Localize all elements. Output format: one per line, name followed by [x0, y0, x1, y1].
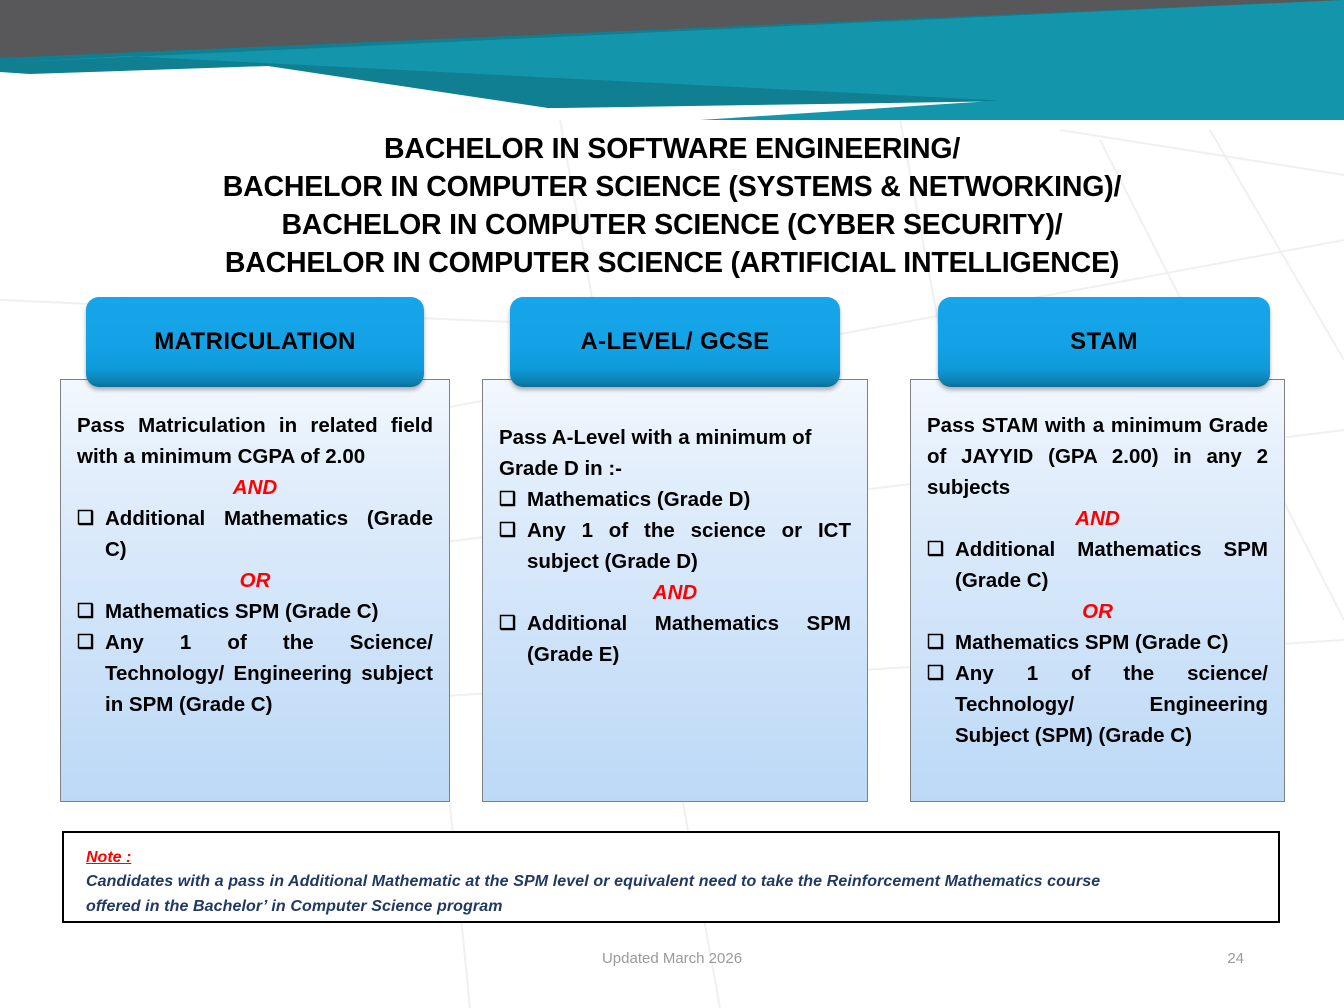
requirement-bullet: ❑Additional Mathematics SPM (Grade C)	[927, 534, 1268, 596]
checkbox-icon: ❑	[927, 627, 955, 658]
requirement-paragraph: Pass Matriculation in related field with…	[77, 410, 433, 472]
page-title: BACHELOR IN SOFTWARE ENGINEERING/ BACHEL…	[50, 130, 1294, 282]
column-header-label: MATRICULATION	[154, 328, 356, 356]
title-line-2: BACHELOR IN COMPUTER SCIENCE (SYSTEMS & …	[50, 168, 1294, 206]
conjunction-label: AND	[499, 577, 851, 608]
requirement-card-a-level-gcse: Pass A-Level with a minimum of Grade D i…	[482, 379, 868, 802]
requirement-paragraph: Pass A-Level with a minimum of Grade D i…	[499, 422, 851, 484]
note-line-2: offered in the Bachelor’ in Computer Sci…	[86, 894, 1256, 919]
column-header-pill-stam[interactable]: STAM	[938, 297, 1270, 387]
requirement-paragraph: Pass STAM with a minimum Grade of JAYYID…	[927, 410, 1268, 503]
requirement-card-body-matriculation: Pass Matriculation in related field with…	[61, 380, 449, 730]
requirement-bullet: ❑Any 1 of the Science/ Technology/ Engin…	[77, 627, 433, 720]
requirement-bullet-label: Additional Mathematics (Grade C)	[105, 503, 433, 565]
checkbox-icon: ❑	[927, 658, 955, 689]
requirement-column-matriculation: Pass Matriculation in related field with…	[60, 297, 450, 812]
conjunction-label: AND	[77, 472, 433, 503]
decorative-banner	[0, 0, 1344, 120]
checkbox-icon: ❑	[927, 534, 955, 565]
note-line-1: Candidates with a pass in Additional Mat…	[86, 869, 1256, 894]
requirement-bullet-label: Any 1 of the science/ Technology/ Engine…	[955, 658, 1268, 751]
requirement-bullet-label: Additional Mathematics SPM (Grade C)	[955, 534, 1268, 596]
conjunction-label: AND	[927, 503, 1268, 534]
title-line-4: BACHELOR IN COMPUTER SCIENCE (ARTIFICIAL…	[50, 244, 1294, 282]
conjunction-label: OR	[77, 565, 433, 596]
requirement-card-stam: Pass STAM with a minimum Grade of JAYYID…	[910, 379, 1285, 802]
requirement-bullet: ❑Any 1 of the science or ICT subject (Gr…	[499, 515, 851, 577]
column-header-pill-a-level-gcse[interactable]: A-LEVEL/ GCSE	[510, 297, 840, 387]
requirement-bullet: ❑Any 1 of the science/ Technology/ Engin…	[927, 658, 1268, 751]
checkbox-icon: ❑	[499, 515, 527, 546]
checkbox-icon: ❑	[77, 627, 105, 658]
checkbox-icon: ❑	[77, 596, 105, 627]
column-header-label: STAM	[1070, 328, 1138, 356]
requirement-bullet-label: Additional Mathematics SPM (Grade E)	[527, 608, 851, 670]
requirement-bullet-label: Mathematics (Grade D)	[527, 484, 851, 515]
title-line-3: BACHELOR IN COMPUTER SCIENCE (CYBER SECU…	[50, 206, 1294, 244]
requirement-card-body-stam: Pass STAM with a minimum Grade of JAYYID…	[911, 380, 1284, 761]
requirement-bullet: ❑Mathematics (Grade D)	[499, 484, 851, 515]
requirement-bullet-label: Any 1 of the science or ICT subject (Gra…	[527, 515, 851, 577]
requirement-card-matriculation: Pass Matriculation in related field with…	[60, 379, 450, 802]
column-header-pill-matriculation[interactable]: MATRICULATION	[86, 297, 424, 387]
footer-page-number: 24	[1227, 950, 1244, 967]
title-line-1: BACHELOR IN SOFTWARE ENGINEERING/	[50, 130, 1294, 168]
requirement-column-stam: Pass STAM with a minimum Grade of JAYYID…	[910, 297, 1285, 812]
note-label: Note :	[86, 847, 1256, 869]
checkbox-icon: ❑	[77, 503, 105, 534]
requirement-bullet-label: Mathematics SPM (Grade C)	[105, 596, 433, 627]
checkbox-icon: ❑	[499, 608, 527, 639]
requirement-bullet: ❑Additional Mathematics SPM (Grade E)	[499, 608, 851, 670]
checkbox-icon: ❑	[499, 484, 527, 515]
note-box: Note : Candidates with a pass in Additio…	[62, 831, 1280, 923]
requirement-card-body-a-level-gcse: Pass A-Level with a minimum of Grade D i…	[483, 380, 867, 680]
requirement-bullet: ❑Additional Mathematics (Grade C)	[77, 503, 433, 565]
requirement-bullet-label: Any 1 of the Science/ Technology/ Engine…	[105, 627, 433, 720]
requirement-column-a-level-gcse: Pass A-Level with a minimum of Grade D i…	[482, 297, 868, 812]
footer-updated-label: Updated March 2026	[0, 950, 1344, 967]
requirement-columns: Pass Matriculation in related field with…	[0, 297, 1344, 812]
conjunction-label: OR	[927, 596, 1268, 627]
requirement-bullet: ❑Mathematics SPM (Grade C)	[77, 596, 433, 627]
requirement-bullet: ❑Mathematics SPM (Grade C)	[927, 627, 1268, 658]
requirement-bullet-label: Mathematics SPM (Grade C)	[955, 627, 1268, 658]
column-header-label: A-LEVEL/ GCSE	[580, 328, 769, 356]
